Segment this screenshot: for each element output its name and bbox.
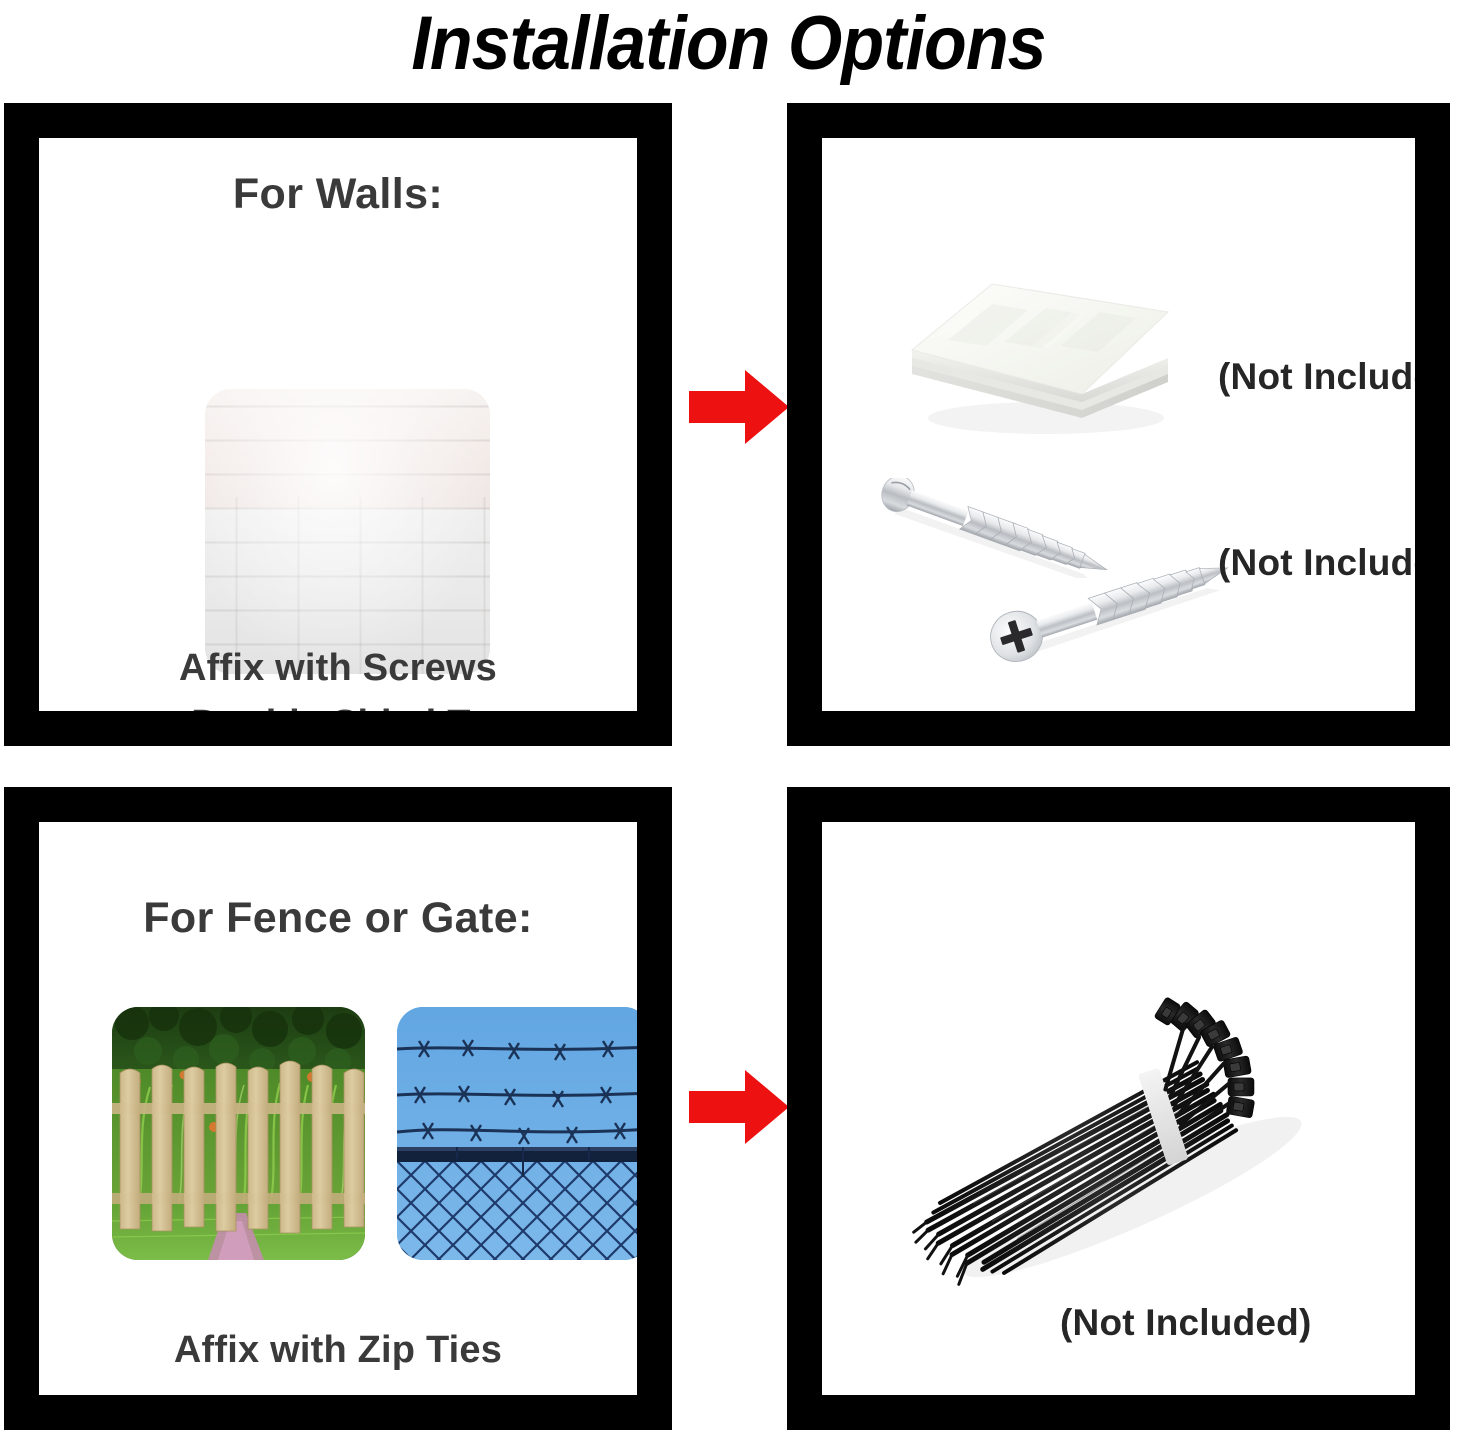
wood-screw-image-lower (972, 553, 1237, 663)
for-walls-heading: For Walls: (39, 170, 637, 219)
double-sided-tape-stack-image (896, 266, 1186, 446)
panel-for-walls: For Walls: Affix with Screws or Double S… (4, 103, 672, 746)
panel-for-fence-or-gate-content: For Fence or Gate: (39, 822, 637, 1395)
arrow-right-icon-bottom (689, 1068, 789, 1146)
white-brick-wall-photo (205, 389, 490, 674)
affix-with-screws-caption: Affix with Screws (39, 640, 637, 696)
screws-not-included-label: (Not Included) (1218, 542, 1415, 584)
installation-options-infographic: Installation Options For Walls: Affix wi… (0, 0, 1457, 1434)
panel-wall-hardware-content: (Not Included) (822, 138, 1415, 711)
tape-not-included-label: (Not Included) (1218, 356, 1415, 398)
panel-for-fence-or-gate: For Fence or Gate: (4, 787, 672, 1430)
arrow-right-icon-top (689, 368, 789, 446)
double-sided-tape-caption: or Double Sided Tape (39, 696, 637, 711)
page-title: Installation Options (58, 0, 1398, 90)
panel-for-walls-content: For Walls: Affix with Screws or Double S… (39, 138, 637, 711)
wooden-picket-fence-photo (112, 1007, 365, 1260)
panel-wall-hardware: (Not Included) (787, 103, 1450, 746)
chain-link-barbed-wire-fence-photo (397, 1007, 637, 1260)
affix-with-zip-ties-caption: Affix with Zip Ties (39, 1322, 637, 1378)
for-fence-or-gate-heading: For Fence or Gate: (39, 894, 637, 943)
panel-zip-tie-hardware: (Not Included) (787, 787, 1450, 1430)
panel-zip-tie-hardware-content: (Not Included) (822, 822, 1415, 1395)
wall-highlight-overlay (205, 389, 490, 674)
zip-ties-not-included-label: (Not Included) (1060, 1302, 1311, 1344)
zip-ties-bundle-image (882, 942, 1342, 1302)
